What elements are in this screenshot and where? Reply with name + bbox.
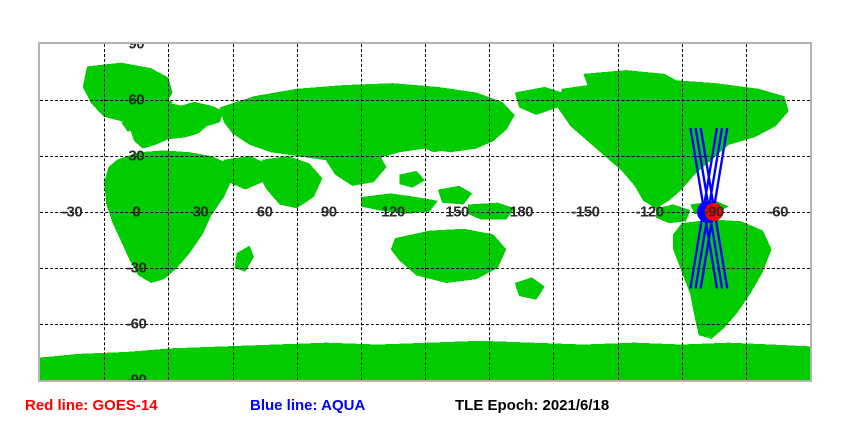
lon-tick-label: -60: [768, 205, 788, 220]
world-map-frame: -300306090120150180-150-120-90-609060300…: [38, 42, 812, 382]
lon-tick-label: 60: [257, 205, 273, 220]
lat-tick-label: -90: [126, 373, 146, 383]
lon-tick-label: -150: [571, 205, 599, 220]
lon-tick-label: -30: [62, 205, 82, 220]
lat-tick-label: -30: [126, 261, 146, 276]
lon-tick-label: 30: [193, 205, 209, 220]
lat-tick-label: 60: [128, 93, 144, 108]
map-canvas: -300306090120150180-150-120-90-609060300…: [40, 44, 810, 380]
aqua-ground-tracks: [40, 44, 810, 380]
lon-tick-label: -90: [704, 205, 724, 220]
lon-tick-label: 90: [321, 205, 337, 220]
legend-tle-epoch: TLE Epoch: 2021/6/18: [455, 395, 609, 417]
legend-red-line-goes: Red line: GOES-14: [25, 395, 158, 417]
legend-blue-line-aqua: Blue line: AQUA: [250, 395, 365, 417]
lat-tick-label: 90: [128, 42, 144, 52]
satellite-ground-track-map: -300306090120150180-150-120-90-609060300…: [0, 0, 850, 425]
legend-footer: Red line: GOES-14 Blue line: AQUA TLE Ep…: [0, 395, 850, 421]
lat-tick-label: 30: [128, 149, 144, 164]
lat-tick-label: 0: [132, 205, 140, 220]
lat-tick-label: -60: [126, 317, 146, 332]
lon-tick-label: 150: [445, 205, 469, 220]
lon-tick-label: 180: [509, 205, 533, 220]
lon-tick-label: 120: [381, 205, 405, 220]
lon-tick-label: -120: [636, 205, 664, 220]
